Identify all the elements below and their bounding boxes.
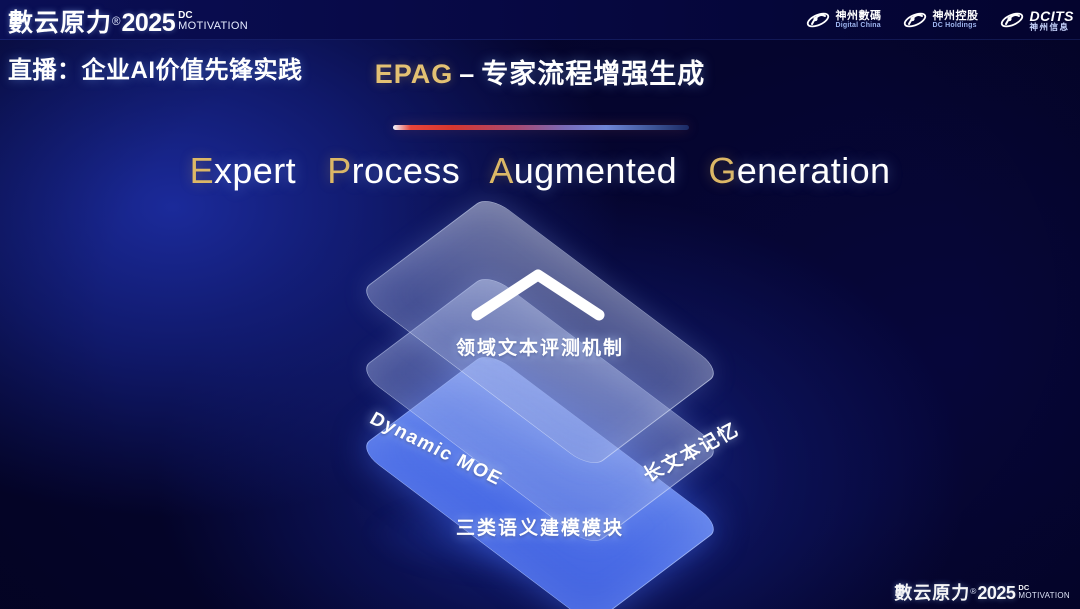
- slide-title-chinese: 专家流程增强生成: [481, 59, 705, 89]
- gradient-divider: [393, 125, 689, 130]
- slide-canvas: 數云原力 ® 2025 DC MOTIVATION 直播：企业AI价值先锋实践 …: [0, 0, 1080, 609]
- slide-title-dash: –: [459, 59, 475, 89]
- brand-logo-year: 2025: [122, 9, 176, 38]
- acronym-rest-process: rocess: [352, 150, 460, 191]
- partner-logo-text: 神州控股 DC Holdings: [933, 11, 979, 29]
- live-stream-label: 直播：企业AI价值先锋实践: [8, 50, 303, 85]
- acronym-letter-e: E: [190, 150, 214, 191]
- expanded-word-expert: Expert: [190, 150, 296, 191]
- expanded-acronym-title: Expert Process Augmented Generation: [0, 150, 1080, 192]
- partner-logo-digital-china: 神州數碼 Digital China: [805, 9, 882, 31]
- brand-logo-cn: 數云原力: [8, 3, 112, 39]
- acronym-letter-a: A: [489, 150, 513, 191]
- acronym-letter-p: P: [327, 150, 351, 191]
- watermark-dc-line2: MOTIVATION: [1018, 592, 1070, 599]
- partner-name-en: Digital China: [836, 22, 882, 29]
- expanded-word-process: Process: [327, 150, 460, 191]
- partner-name-en: DC Holdings: [933, 22, 979, 29]
- watermark-cn: 數云原力: [894, 579, 970, 605]
- chevron-up-icon: [463, 265, 613, 323]
- swirl-logo-icon: [902, 9, 928, 31]
- brand-logo-dc-motivation: DC MOTIVATION: [178, 11, 248, 30]
- spacer: [471, 150, 481, 191]
- expanded-word-generation: Generation: [708, 150, 890, 191]
- layered-architecture-diagram: 领域文本评测机制 Dynamic MOE 长文本记忆 三类语义建模模块: [285, 225, 795, 570]
- acronym-letter-g: G: [708, 150, 736, 191]
- expanded-word-augmented: Augmented: [489, 150, 677, 191]
- diagram-label-bottom: 三类语义建模模块: [285, 513, 795, 540]
- swirl-logo-icon: [805, 9, 831, 31]
- brand-logo: 數云原力 ® 2025 DC MOTIVATION: [8, 3, 248, 39]
- partner-logo-text: DCITS 神州信息: [1030, 9, 1075, 32]
- brand-watermark: 數云原力 ® 2025 DC MOTIVATION: [894, 579, 1070, 605]
- acronym-rest-augmented: ugmented: [514, 150, 677, 191]
- slide-title-acronym: EPAG: [375, 59, 454, 89]
- swirl-logo-icon: [999, 9, 1025, 31]
- brand-registered-mark: ®: [112, 16, 120, 28]
- partner-logo-text: 神州數碼 Digital China: [836, 11, 882, 29]
- partner-name-latin: DCITS: [1030, 9, 1075, 23]
- diagram-label-top: 领域文本评测机制: [285, 333, 795, 360]
- partner-name-cn-sub: 神州信息: [1030, 23, 1075, 32]
- partner-name-cn: 神州控股: [933, 11, 979, 22]
- brand-dc-line2: MOTIVATION: [178, 21, 248, 31]
- spacer: [306, 150, 316, 191]
- watermark-year: 2025: [977, 583, 1015, 604]
- partner-name-cn: 神州數碼: [836, 11, 882, 22]
- partner-logo-dcits: DCITS 神州信息: [999, 9, 1075, 32]
- watermark-dc-motivation: DC MOTIVATION: [1018, 585, 1070, 599]
- acronym-rest-generation: eneration: [737, 150, 891, 191]
- partner-logo-group: 神州數碼 Digital China 神州控股 DC Holdings: [805, 3, 1075, 37]
- partner-logo-dc-holdings: 神州控股 DC Holdings: [902, 9, 979, 31]
- acronym-rest-expert: xpert: [214, 150, 296, 191]
- watermark-registered-mark: ®: [970, 587, 976, 596]
- spacer: [688, 150, 698, 191]
